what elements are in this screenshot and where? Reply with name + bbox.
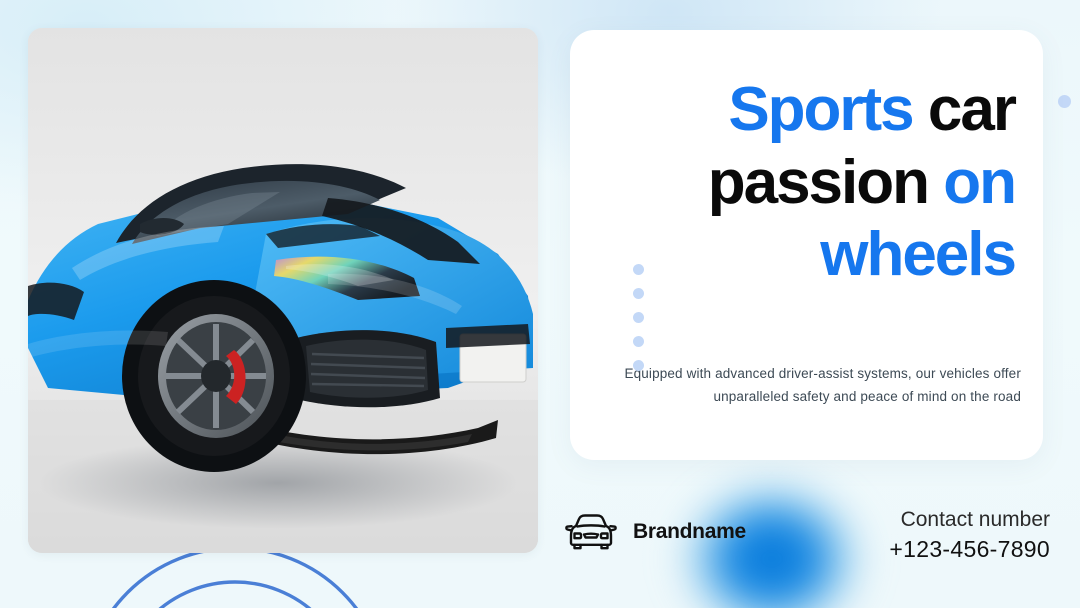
dot-icon <box>1058 95 1071 108</box>
car-front-icon <box>563 512 619 552</box>
dot-icon <box>633 336 644 347</box>
headline-line-1: Sports car <box>604 74 1015 147</box>
hero-car-image <box>28 28 538 553</box>
headline-line-3: wheels <box>604 219 1015 292</box>
headline-word-sports: Sports <box>728 75 912 144</box>
contact-label: Contact number <box>889 506 1050 534</box>
headline-word-wheels: wheels <box>820 220 1015 289</box>
dot-icon <box>633 264 644 275</box>
contact-block: Contact number +123-456-7890 <box>889 506 1050 564</box>
dot-icon <box>633 312 644 323</box>
contact-number[interactable]: +123-456-7890 <box>889 534 1050 564</box>
page-title: Sports car passion on wheels <box>604 74 1015 292</box>
dot-icon <box>633 360 644 371</box>
dot-column-decor <box>633 264 644 371</box>
headline-line-2: passion on <box>604 147 1015 220</box>
dot-icon <box>633 288 644 299</box>
headline-word-car: car <box>928 75 1015 144</box>
brand-name-label: Brandname <box>633 520 746 544</box>
headline-word-passion: passion <box>708 148 928 217</box>
brand-logo[interactable]: Brandname <box>563 512 746 552</box>
body-paragraph: Equipped with advanced driver-assist sys… <box>620 362 1021 408</box>
headline-card: Sports car passion on wheels Equipped wi… <box>570 30 1043 460</box>
headline-word-on: on <box>943 148 1015 217</box>
